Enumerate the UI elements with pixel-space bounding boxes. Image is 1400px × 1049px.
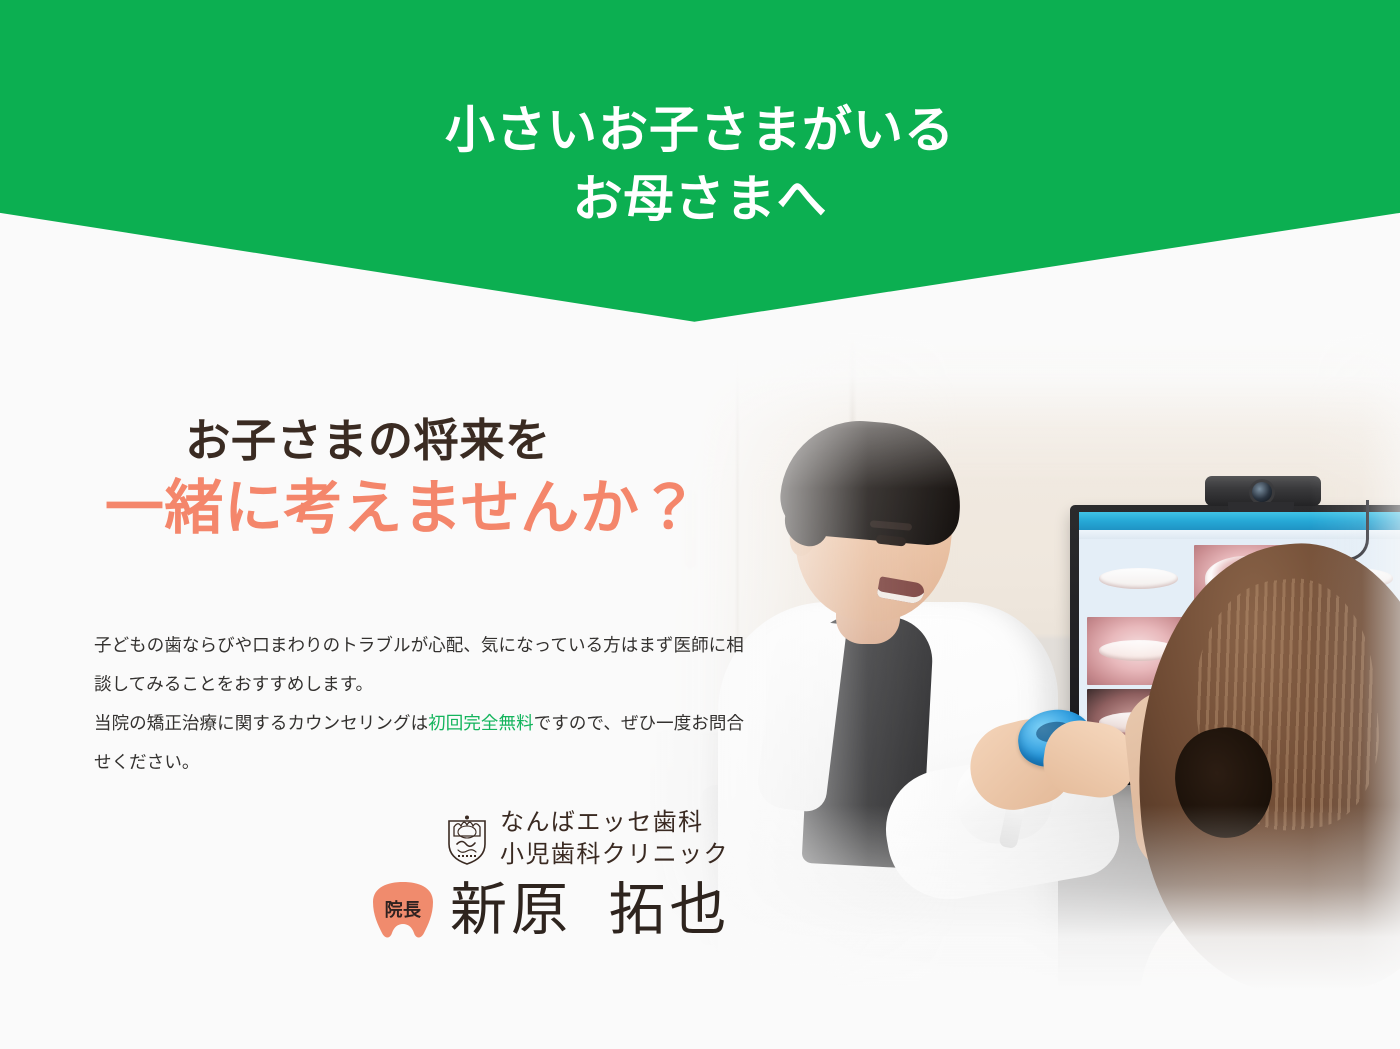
doctor-name: 新原 拓也	[450, 882, 730, 939]
clinic-identity-row: なんばエッセ歯科 小児歯科クリニック	[372, 808, 730, 871]
page-title-line1: お子さまの将来を	[94, 418, 754, 463]
banner-heading: 小さいお子さまがいる お母さまへ	[0, 96, 1400, 234]
shield-crest-icon	[446, 814, 488, 866]
signature-block: なんばエッセ歯科 小児歯科クリニック 院長 新原 拓也	[372, 808, 730, 939]
tooth-badge-icon: 院長	[372, 881, 434, 939]
page-title-line2: 一緒に考えませんか？	[94, 479, 754, 538]
clinic-name: なんばエッセ歯科 小児歯科クリニック	[500, 808, 729, 871]
dentist-consultation-photo	[640, 330, 1400, 990]
doctor-name-row: 院長 新原 拓也	[372, 881, 730, 939]
free-counseling-highlight: 初回完全無料	[428, 713, 534, 733]
badge-label: 院長	[385, 896, 422, 922]
photo-fade-right	[640, 330, 1400, 990]
body-paragraph: 子どもの歯ならびや口まわりのトラブルが心配、気になっている方はまず医師に相談して…	[94, 626, 754, 781]
main-content: お子さまの将来を 一緒に考えませんか？ 子どもの歯ならびや口まわりのトラブルが心…	[94, 418, 754, 781]
